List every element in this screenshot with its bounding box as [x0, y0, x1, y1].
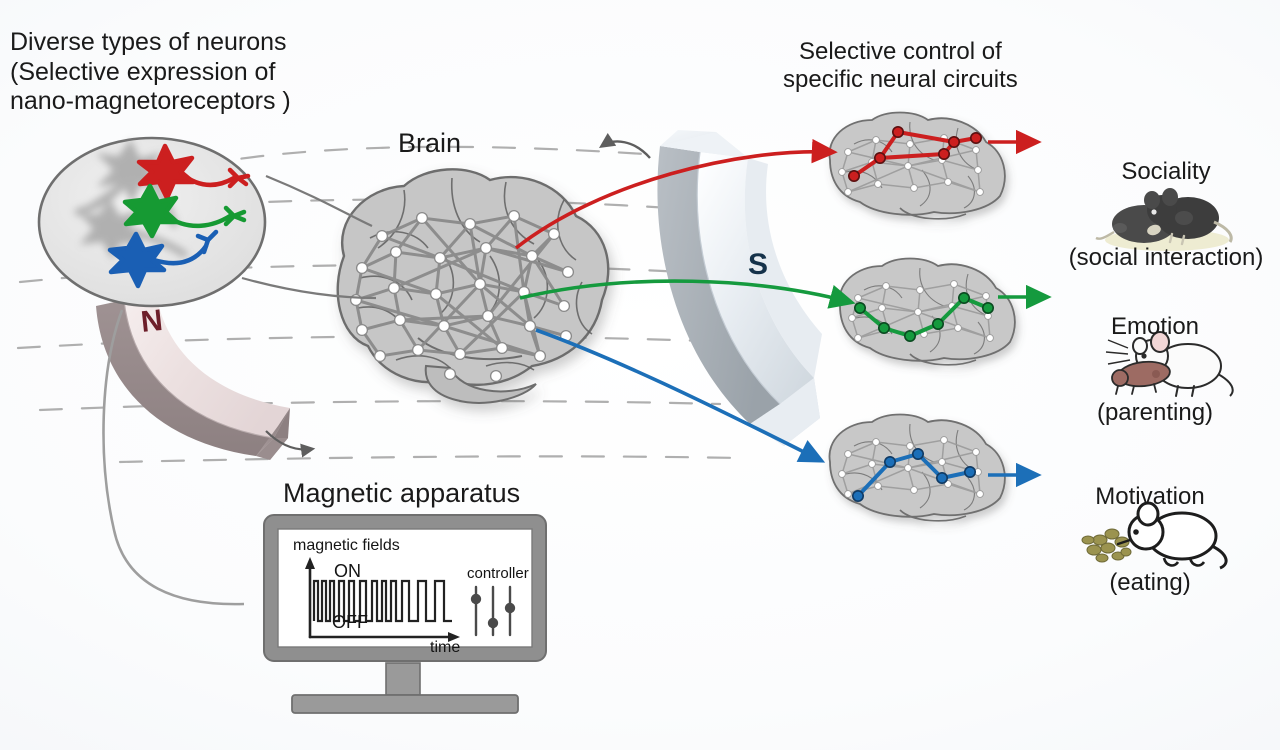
off-label: OFF [332, 612, 368, 633]
outcome-label-motivation: Motivation (eating) [1055, 425, 1245, 655]
neuron-inset-circle [34, 132, 274, 317]
time-axis-label: time [430, 639, 460, 657]
screen-heading: magnetic fields [293, 537, 400, 555]
outcome-title-sociality: Sociality [1052, 158, 1280, 187]
magnet-tip-arrow-icon [260, 425, 330, 465]
on-label: ON [334, 561, 361, 582]
outcome-subtitle-motivation: (eating) [1055, 569, 1245, 598]
magnetic-apparatus-monitor[interactable]: magnetic fields ON OFF time controller [262, 513, 562, 728]
selective-control-title: Selective control of specific neural cir… [783, 38, 1018, 95]
outcome-subtitle-emotion: (parenting) [1060, 399, 1250, 428]
circuit-projection-arrows [480, 120, 1060, 520]
outcome-title-emotion: Emotion [1060, 313, 1250, 342]
controller-label: controller [467, 565, 529, 582]
brain-label: Brain [398, 128, 461, 160]
magnetic-apparatus-label: Magnetic apparatus [283, 478, 520, 510]
outcome-title-motivation: Motivation [1055, 483, 1245, 512]
neurons-title: Diverse types of neurons (Selective expr… [10, 28, 291, 117]
figure-canvas: N S [0, 0, 1280, 750]
